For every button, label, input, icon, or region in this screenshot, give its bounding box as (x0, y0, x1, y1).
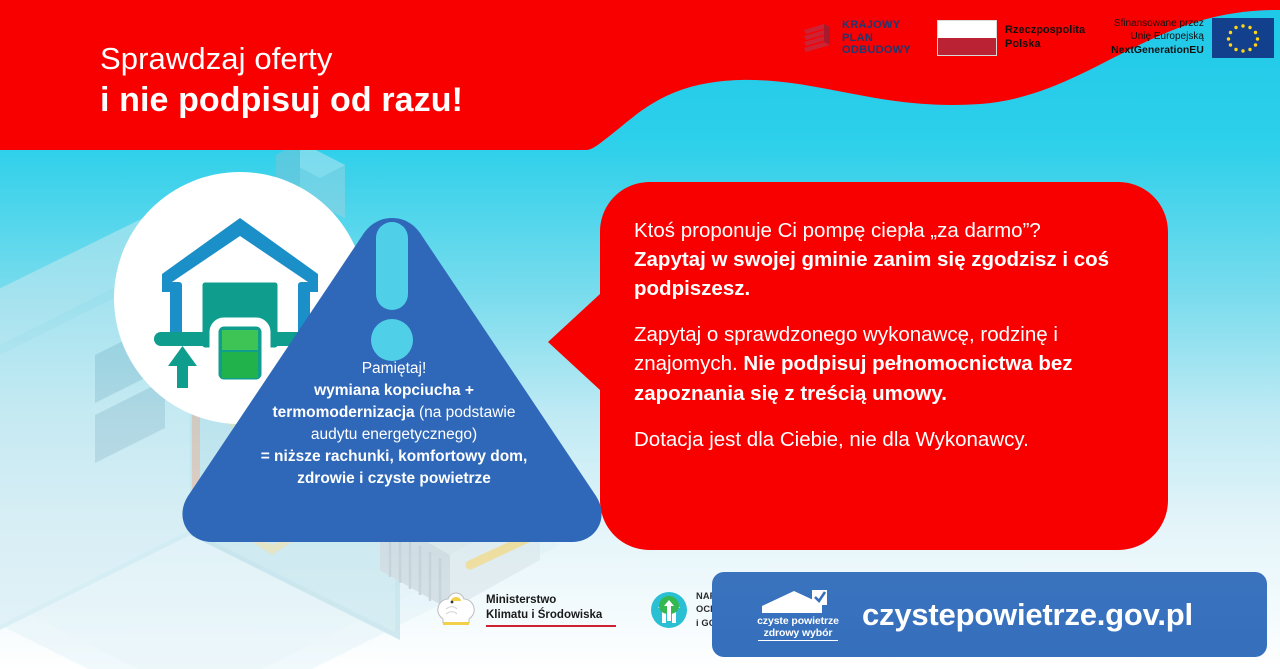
cp-logo-line2: zdrowy wybór (756, 627, 840, 639)
triangle-line-6: zdrowie i czyste powietrze (205, 468, 583, 490)
cp-logo-line1: czyste powietrze (756, 615, 840, 627)
poland-logo: Rzeczpospolita Polska (937, 20, 1085, 56)
bubble-paragraph-3: Dotacja jest dla Ciebie, nie dla Wykonaw… (634, 425, 1144, 454)
kpo-line1: KRAJOWY (842, 19, 911, 32)
bubble-message: Ktoś proponuje Ci pompę ciepła „za darmo… (634, 216, 1144, 454)
kpo-logo-text: KRAJOWY PLAN ODBUDOWY (842, 19, 911, 58)
eu-logo: Sfinansowane przez Unię Europejską NextG… (1111, 18, 1274, 58)
ministry-line1: Ministerstwo (486, 593, 616, 608)
kpo-logo: KRAJOWY PLAN ODBUDOWY (800, 19, 911, 58)
website-bar[interactable]: czyste powietrze zdrowy wybór czystepowi… (712, 572, 1267, 657)
polish-eagle-icon (434, 589, 478, 631)
kpo-line3: ODBUDOWY (842, 44, 911, 57)
triangle-line-3: termomodernizacja (na podstawie (205, 402, 583, 424)
triangle-line-2: wymiana kopciucha + (205, 380, 583, 402)
eu-flag-icon (1212, 18, 1274, 58)
bubble-p1-regular: Ktoś proponuje Ci pompę ciepła „za darmo… (634, 219, 1041, 242)
triangle-line-5: = niższe rachunki, komfortowy dom, (205, 446, 583, 468)
poland-flag-icon (937, 20, 997, 56)
kpo-logo-icon (800, 21, 834, 55)
header-logos: KRAJOWY PLAN ODBUDOWY Rzeczpospolita Pol… (800, 18, 1274, 58)
nfosigw-tree-icon (650, 591, 688, 629)
triangle-message: Pamiętaj! wymiana kopciucha + termomoder… (205, 358, 583, 490)
eu-line2: Unię Europejską (1111, 31, 1204, 44)
website-url[interactable]: czystepowietrze.gov.pl (862, 597, 1193, 633)
exclamation-mark-icon (352, 218, 432, 368)
ministry-logo-text: Ministerstwo Klimatu i Środowiska (486, 593, 616, 628)
ministry-logo: Ministerstwo Klimatu i Środowiska (434, 589, 616, 631)
house-checkmark-icon (760, 589, 836, 615)
eu-line3: NextGenerationEU (1111, 44, 1204, 57)
czyste-powietrze-logo: czyste powietrze zdrowy wybór (756, 589, 840, 641)
bubble-paragraph-1: Ktoś proponuje Ci pompę ciepła „za darmo… (634, 216, 1144, 303)
triangle-line-4: audytu energetycznego) (205, 424, 583, 446)
ministry-line2: Klimatu i Środowiska (486, 608, 616, 623)
page-title: Sprawdzaj oferty i nie podpisuj od razu! (100, 40, 463, 121)
triangle-line-3-bold: termomodernizacja (273, 404, 415, 421)
title-line-2: i nie podpisuj od razu! (100, 79, 463, 122)
bubble-p1-bold: Zapytaj w swojej gminie zanim się zgodzi… (634, 248, 1109, 300)
eu-line1: Sfinansowane przez (1111, 18, 1204, 31)
poland-logo-text: Rzeczpospolita Polska (1005, 24, 1085, 52)
bubble-paragraph-2: Zapytaj o sprawdzonego wykonawcę, rodzin… (634, 320, 1144, 407)
kpo-line2: PLAN (842, 32, 911, 45)
triangle-line-3-rest: (na podstawie (415, 404, 516, 421)
poland-line2: Polska (1005, 38, 1085, 52)
eu-logo-text: Sfinansowane przez Unię Europejską NextG… (1111, 18, 1204, 57)
triangle-line-1: Pamiętaj! (205, 358, 583, 380)
cp-logo-rule (758, 640, 838, 642)
title-line-1: Sprawdzaj oferty (100, 40, 463, 79)
poland-line1: Rzeczpospolita (1005, 24, 1085, 38)
ministry-red-rule (486, 625, 616, 627)
